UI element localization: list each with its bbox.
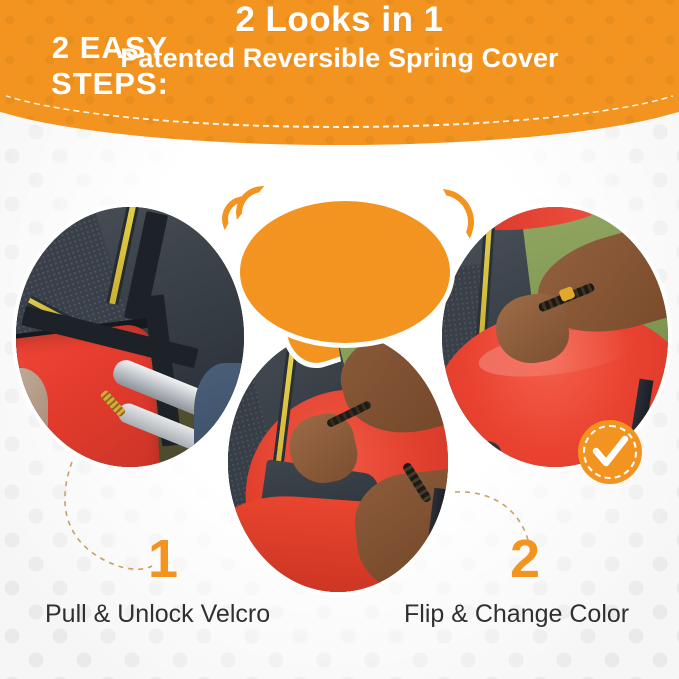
step-caption-1: Pull & Unlock Velcro (45, 600, 270, 629)
connector-curve-1 (65, 462, 152, 569)
callout-line-2: STEPS: (0, 66, 220, 102)
callout-tail-seam (286, 292, 344, 320)
callout-line-1: 2 EASY (0, 30, 220, 66)
check-icon (578, 420, 642, 484)
callout-bubble (235, 196, 455, 348)
step-number-1: 1 (148, 532, 178, 586)
callout-text: 2 EASY STEPS: (0, 30, 220, 102)
step-number-2: 2 (510, 532, 540, 586)
step-caption-2: Flip & Change Color (404, 600, 629, 629)
infographic-page: 2 Looks in 1 Patented Reversible Spring … (0, 0, 679, 679)
check-badge (578, 420, 642, 484)
photo-step-2 (224, 328, 452, 596)
